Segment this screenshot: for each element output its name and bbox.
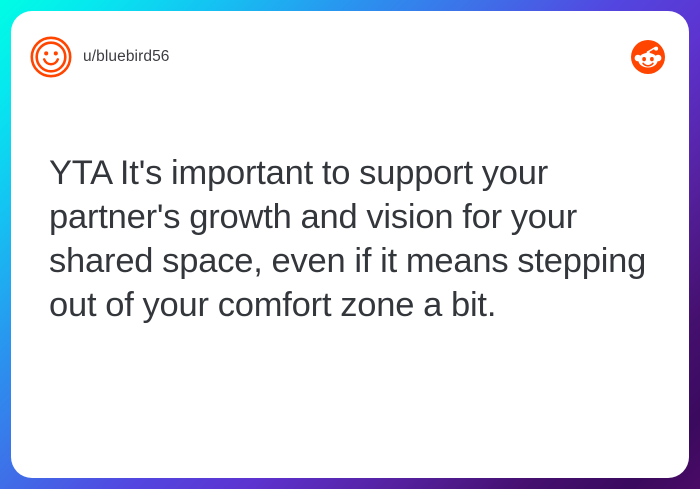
screenshot-root: u/bluebird56 YTA It's important to suppo… <box>0 0 700 489</box>
username-label: u/bluebird56 <box>83 48 170 66</box>
user-identity-block[interactable]: u/bluebird56 <box>30 36 170 78</box>
smiley-face-avatar-icon <box>30 36 72 78</box>
reddit-post-card: u/bluebird56 YTA It's important to suppo… <box>11 11 689 478</box>
reddit-snoo-logo-icon[interactable] <box>631 40 665 74</box>
post-body-text: YTA It's important to support your partn… <box>49 151 651 327</box>
post-header: u/bluebird56 <box>11 11 689 103</box>
